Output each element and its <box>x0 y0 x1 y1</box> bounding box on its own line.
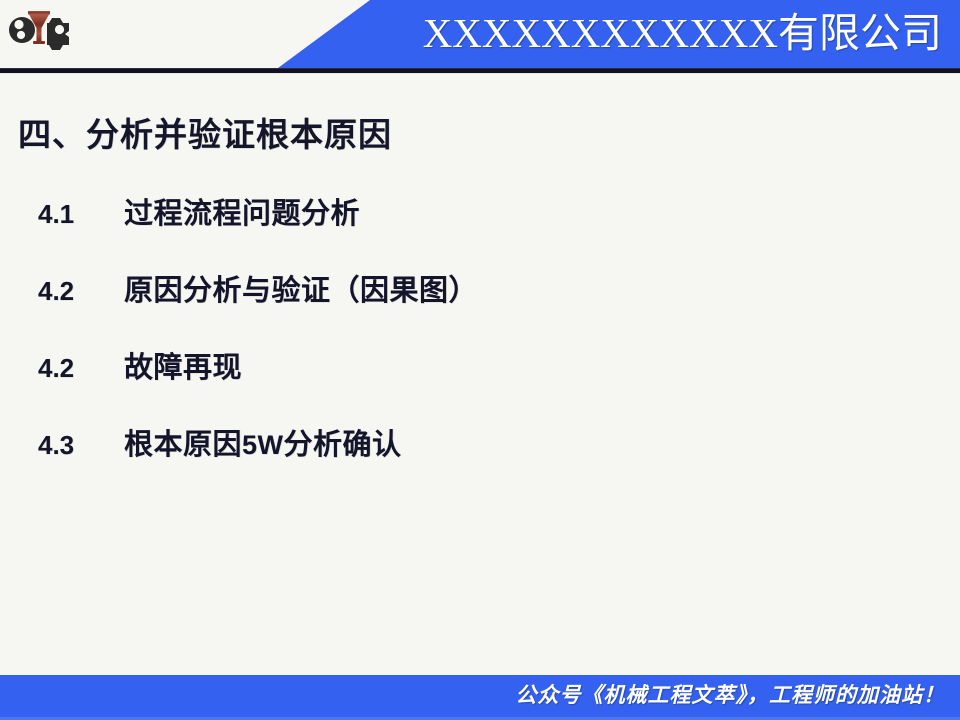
agenda-item-label: 故障再现 <box>124 344 242 386</box>
agenda-item-text-before: 过程流程问题分析 <box>124 198 360 230</box>
agenda-item-number: 4.3 <box>38 430 124 461</box>
agenda-item-text-before: 根本原因 <box>124 429 242 461</box>
footer-promo-text: 公众号《机械工程文萃》，工程师的加油站！ <box>516 675 946 717</box>
slide-body: 四、分析并验证根本原因 4.1 过程流程问题分析 4.2 原因分析与验证（因果图… <box>0 74 960 675</box>
agenda-list: 4.1 过程流程问题分析 4.2 原因分析与验证（因果图） 4.2 故障再现 4… <box>38 190 918 498</box>
agenda-item-number: 4.1 <box>38 199 124 230</box>
agenda-item[interactable]: 4.1 过程流程问题分析 <box>38 190 918 267</box>
agenda-item-label: 根本原因5W分析确认 <box>124 421 402 463</box>
agenda-item-label: 过程流程问题分析 <box>124 190 360 232</box>
agenda-item[interactable]: 4.2 原因分析与验证（因果图） <box>38 267 918 344</box>
company-title: XXXXXXXXXXXX有限公司 <box>423 2 942 66</box>
agenda-item-number: 4.2 <box>38 353 124 384</box>
agenda-item-text-after: 分析确认 <box>284 429 402 461</box>
slide-header: XXXXXXXXXXXX有限公司 <box>0 0 960 68</box>
agenda-item-text-before: 原因分析与验证（因果图） <box>124 275 478 307</box>
agenda-item-text-before: 故障再现 <box>124 352 242 384</box>
slide-footer: 公众号《机械工程文萃》，工程师的加油站！ <box>0 675 960 720</box>
page-title: 四、分析并验证根本原因 <box>18 108 392 156</box>
company-logo-icon <box>8 6 72 50</box>
agenda-item[interactable]: 4.3 根本原因5W分析确认 <box>38 421 918 498</box>
agenda-item-label: 原因分析与验证（因果图） <box>124 267 478 309</box>
slide: XXXXXXXXXXXX有限公司 四、分析并验证根本原因 4.1 过程流程问题分… <box>0 0 960 720</box>
agenda-item-number: 4.2 <box>38 276 124 307</box>
agenda-item-emphasis: 5W <box>242 430 284 460</box>
agenda-item[interactable]: 4.2 故障再现 <box>38 344 918 421</box>
